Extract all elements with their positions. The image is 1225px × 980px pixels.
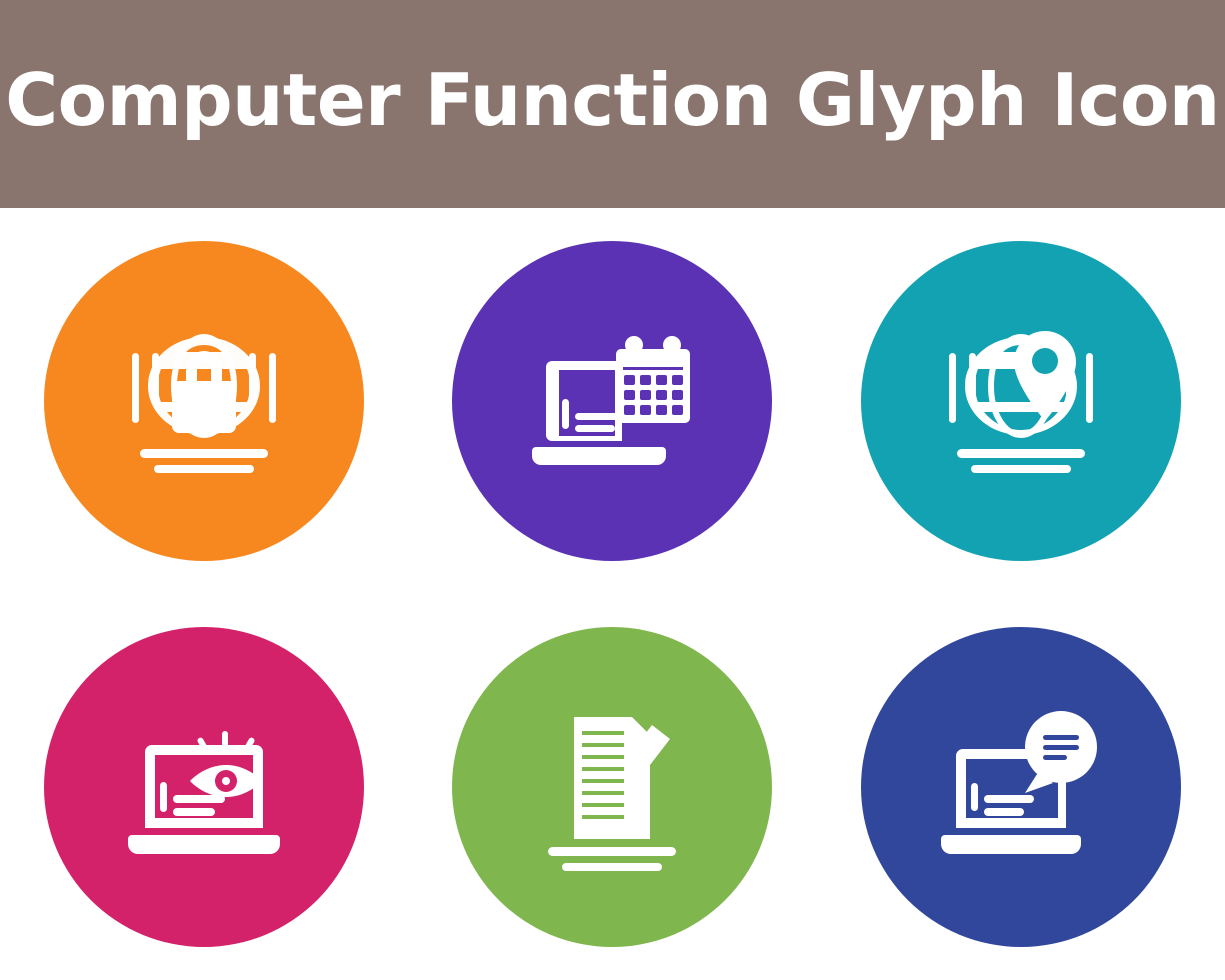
laptop-calendar-schedule-icon [512, 301, 712, 501]
page-title: Computer Function Glyph Icon [5, 64, 1219, 136]
icon-circle-laptop-calendar[interactable] [452, 241, 772, 561]
icon-circle-globe-location-pin[interactable] [861, 241, 1181, 561]
globe-location-pin-icon [921, 301, 1121, 501]
icon-circle-laptop-eye[interactable] [44, 627, 364, 947]
icon-cell-6 [817, 594, 1225, 980]
icon-cell-3 [817, 208, 1225, 594]
icon-circle-laptop-chat[interactable] [861, 627, 1181, 947]
globe-security-lock-icon [104, 301, 304, 501]
icon-sheet-page: Computer Function Glyph Icon [0, 0, 1225, 980]
icon-cell-2 [408, 208, 816, 594]
laptop-chat-message-icon [921, 687, 1121, 887]
laptop-eye-monitoring-icon [104, 687, 304, 887]
icon-cell-1 [0, 208, 408, 594]
header-bar: Computer Function Glyph Icon [0, 0, 1225, 208]
icon-cell-4 [0, 594, 408, 980]
document-pencil-edit-icon [512, 687, 712, 887]
icon-grid [0, 208, 1225, 980]
icon-cell-5 [408, 594, 816, 980]
icon-circle-globe-security-lock[interactable] [44, 241, 364, 561]
icon-circle-document-pencil[interactable] [452, 627, 772, 947]
